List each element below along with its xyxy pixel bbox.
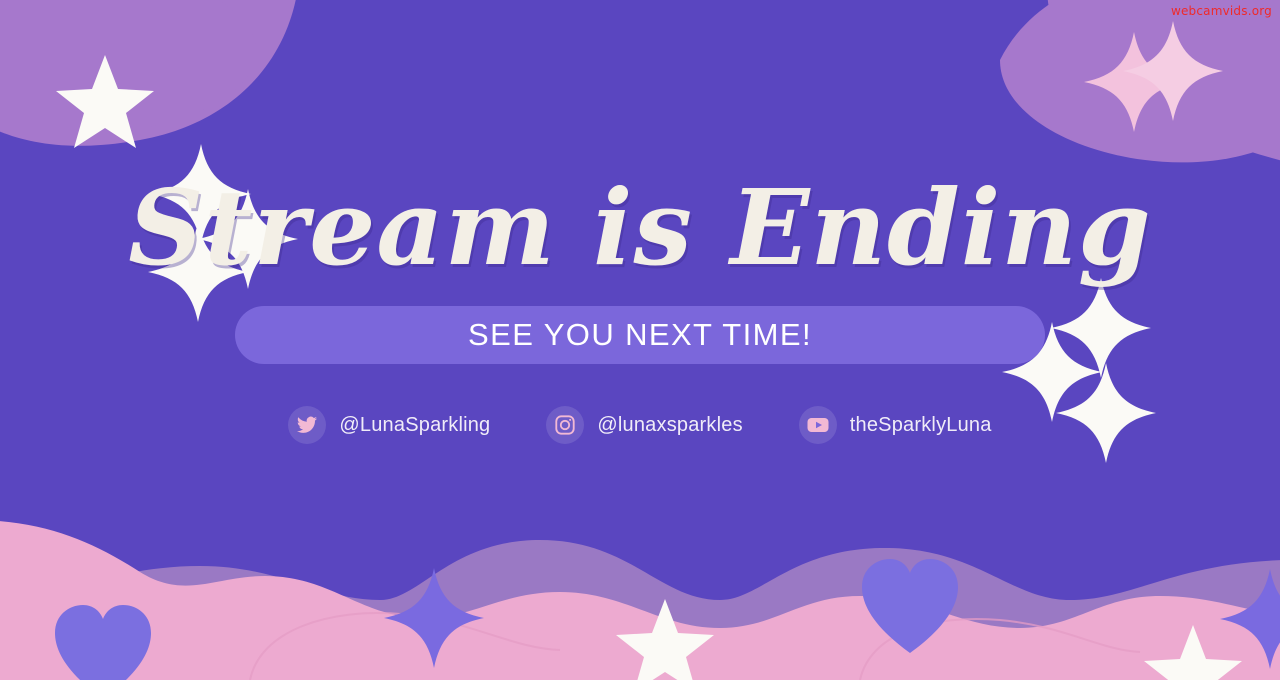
instagram-camera-icon bbox=[546, 406, 584, 444]
instagram-handle: @lunaxsparkles bbox=[597, 414, 742, 437]
social-link-youtube[interactable]: theSparklyLuna bbox=[799, 406, 992, 444]
page-title: Stream is Ending bbox=[128, 176, 1151, 280]
twitter-bird-icon bbox=[288, 406, 326, 444]
social-link-instagram[interactable]: @lunaxsparkles bbox=[546, 406, 742, 444]
stream-ending-overlay: webcamvids.org Stream is Ending SEE YOU … bbox=[0, 0, 1280, 680]
cta-label: SEE YOU NEXT TIME! bbox=[468, 317, 812, 353]
social-links: @LunaSparkling @lunaxsparkles bbox=[288, 406, 991, 444]
twitter-handle: @LunaSparkling bbox=[339, 414, 490, 437]
watermark: webcamvids.org bbox=[1171, 4, 1272, 18]
youtube-play-icon bbox=[799, 406, 837, 444]
social-link-twitter[interactable]: @LunaSparkling bbox=[288, 406, 490, 444]
youtube-handle: theSparklyLuna bbox=[850, 414, 992, 437]
overlay-content: Stream is Ending SEE YOU NEXT TIME! @Lun… bbox=[0, 0, 1280, 680]
cta-banner: SEE YOU NEXT TIME! bbox=[235, 306, 1045, 364]
